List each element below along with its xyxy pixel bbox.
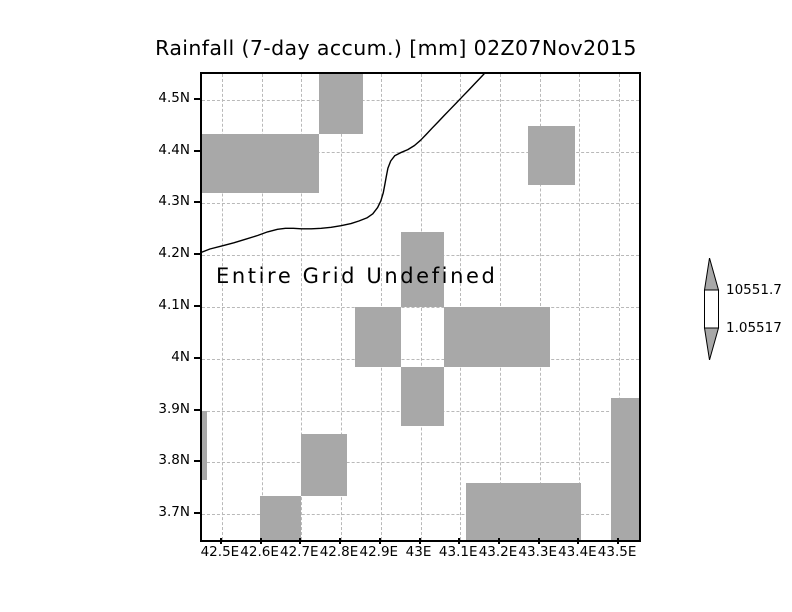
y-tick-8 [194,512,200,514]
y-tick-4 [194,305,200,307]
gridline-horizontal-2 [202,203,639,204]
y-tick-3 [194,253,200,255]
x-axis-label-1: 42.6E [240,544,279,560]
y-axis-label-2: 4.3N [158,193,190,209]
data-cell-cell-center-west [355,307,401,367]
y-axis-label-0: 4.5N [158,90,190,106]
data-cell-cell-center-south [401,367,445,427]
data-cell-cell-left-sliver [202,411,207,481]
data-cell-cell-upper-left [202,134,319,194]
data-cell-cell-right-column [611,398,639,540]
x-axis-label-7: 43.2E [479,544,518,560]
gridline-horizontal-7 [202,462,639,463]
x-axis-label-4: 42.9E [360,544,399,560]
colorbar-box [705,290,719,328]
y-tick-1 [194,150,200,152]
y-tick-2 [194,201,200,203]
data-cell-cell-lower-left-upper [301,434,347,496]
x-axis-label-9: 43.4E [558,544,597,560]
y-axis-label-5: 4N [171,349,190,365]
plot-canvas: Entire Grid Undefined [202,74,639,540]
gridline-horizontal-0 [202,100,639,101]
y-axis-label-8: 3.7N [158,504,190,520]
x-axis-label-5: 43E [406,544,432,560]
colorbar-label-high: 10551.7 [726,282,782,298]
page-title: Rainfall (7-day accum.) [mm] 02Z07Nov201… [0,36,792,60]
x-axis-label-2: 42.7E [280,544,319,560]
gridline-horizontal-4 [202,307,639,308]
y-axis-label-3: 4.2N [158,245,190,261]
data-cell-cell-lower-right-band [466,483,581,540]
colorbar: 10551.7 1.05517 [700,258,790,360]
x-axis-label-0: 42.5E [201,544,240,560]
colorbar-graphic [700,258,726,360]
x-axis-label-3: 42.8E [320,544,359,560]
x-axis-label-10: 43.5E [598,544,637,560]
x-axis-label-8: 43.3E [518,544,557,560]
data-cell-cell-center-east [444,307,549,367]
data-cell-cell-top-center [319,74,363,134]
data-cell-cell-upper-right [528,126,576,186]
y-axis-label-7: 3.8N [158,452,190,468]
y-axis-label-1: 4.4N [158,142,190,158]
status-message: Entire Grid Undefined [216,264,497,288]
y-tick-5 [194,357,200,359]
colorbar-extend-high-icon [705,258,719,290]
gridline-horizontal-5 [202,359,639,360]
plot-area: Entire Grid Undefined [200,72,641,542]
y-tick-6 [194,409,200,411]
y-tick-7 [194,460,200,462]
y-axis-label-4: 4.1N [158,297,190,313]
x-axis-label-6: 43.1E [439,544,478,560]
y-axis-label-6: 3.9N [158,401,190,417]
colorbar-label-low: 1.05517 [726,320,782,336]
data-cell-cell-lower-left-lower [260,496,302,540]
y-tick-0 [194,98,200,100]
colorbar-extend-low-icon [705,328,719,360]
